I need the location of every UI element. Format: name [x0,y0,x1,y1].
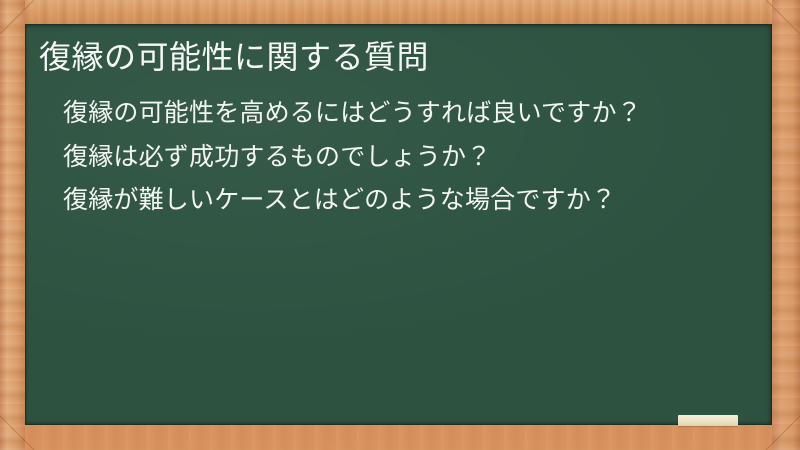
frame-rail-bottom [0,425,800,450]
list-item: 復縁は必ず成功するものでしょうか？ [63,139,738,175]
chalkboard-card: 復縁の可能性に関する質問 復縁の可能性を高めるにはどうすれば良いですか？ 復縁は… [0,0,800,450]
chalk-stick-icon [678,415,738,426]
list-item: 復縁が難しいケースとはどのような場合ですか？ [63,182,738,218]
frame-rail-left [0,0,25,450]
page-title: 復縁の可能性に関する質問 [25,24,772,77]
frame-rail-right [772,0,800,450]
list-item: 復縁の可能性を高めるにはどうすれば良いですか？ [63,95,738,131]
question-list: 復縁の可能性を高めるにはどうすれば良いですか？ 復縁は必ず成功するものでしょうか… [25,77,772,218]
frame-rail-top [0,0,800,24]
chalkboard-surface: 復縁の可能性に関する質問 復縁の可能性を高めるにはどうすれば良いですか？ 復縁は… [25,24,772,425]
board-content: 復縁の可能性に関する質問 復縁の可能性を高めるにはどうすれば良いですか？ 復縁は… [25,24,772,226]
